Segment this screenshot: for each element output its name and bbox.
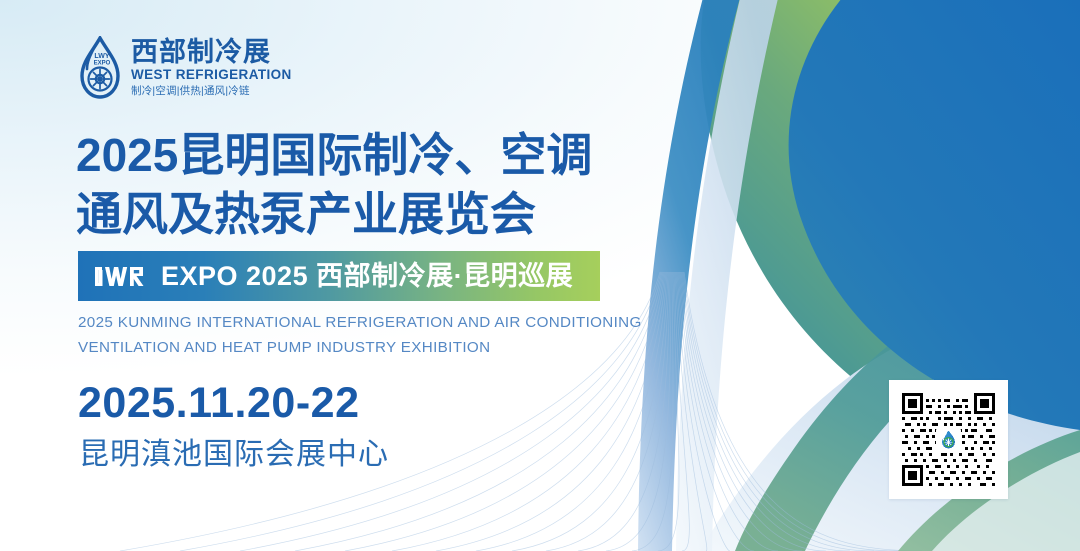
blue-ellipse-lobe: [789, 0, 1080, 430]
brand-categories: 制冷|空调|供热|通风|冷链: [131, 85, 292, 98]
water-droplet-snowflake-logo-icon: LWY EXPO: [78, 36, 122, 100]
brand-logo-text: 西部制冷展 WEST REFRIGERATION 制冷|空调|供热|通风|冷链: [131, 38, 292, 99]
english-subtitle: 2025 KUNMING INTERNATIONAL REFRIGERATION…: [78, 311, 678, 360]
svg-text:EXPO: EXPO: [94, 61, 111, 67]
lwr-logotype-icon: [94, 265, 152, 288]
svg-text:LWY: LWY: [94, 53, 109, 60]
event-ribbon: EXPO 2025 西部制冷展·昆明巡展: [78, 251, 600, 301]
qr-code-icon[interactable]: [898, 389, 999, 490]
subtitle-line-1: 2025 KUNMING INTERNATIONAL REFRIGERATION…: [78, 311, 678, 336]
event-date: 2025.11.20-22: [78, 382, 360, 425]
headline-line-2: 通风及热泵产业展览会: [76, 185, 676, 244]
brand-logo: LWY EXPO 西部制冷展 WEST REFRIGERATION 制冷|空调|…: [78, 36, 292, 100]
page-title: 2025昆明国际制冷、空调 通风及热泵产业展览会: [76, 126, 676, 244]
qr-code[interactable]: [889, 380, 1008, 499]
brand-name-en: WEST REFRIGERATION: [131, 67, 292, 83]
ribbon-label: EXPO 2025 西部制冷展·昆明巡展: [161, 263, 573, 290]
brand-name-cn: 西部制冷展: [131, 38, 292, 66]
subtitle-line-2: VENTILATION AND HEAT PUMP INDUSTRY EXHIB…: [78, 336, 678, 361]
promotional-banner: LWY EXPO 西部制冷展 WEST REFRIGERATION 制冷|空调|…: [0, 0, 1080, 551]
headline-line-1: 2025昆明国际制冷、空调: [76, 129, 592, 181]
event-venue: 昆明滇池国际会展中心: [79, 440, 389, 470]
